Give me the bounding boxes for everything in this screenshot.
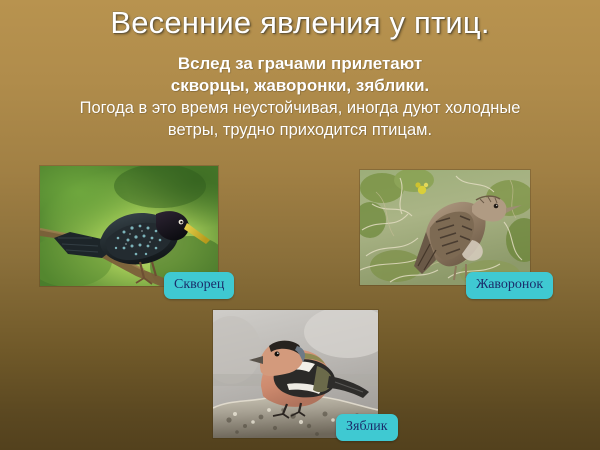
lark-image bbox=[360, 170, 530, 285]
body-line-3: Погода в это время неустойчивая, иногда … bbox=[0, 97, 600, 119]
starling-image bbox=[40, 166, 218, 286]
caption-lark: Жаворонок bbox=[466, 272, 553, 299]
body-line-4: ветры, трудно приходится птицам. bbox=[0, 119, 600, 141]
lark-photo bbox=[360, 170, 530, 285]
page-title: Весенние явления у птиц. bbox=[0, 4, 600, 42]
body-line-1: Вслед за грачами прилетают bbox=[0, 53, 600, 75]
caption-chaffinch: Зяблик bbox=[336, 414, 398, 441]
body-line-2: скворцы, жаворонки, зяблики. bbox=[0, 75, 600, 97]
starling-photo bbox=[40, 166, 218, 286]
body-text-block: Вслед за грачами прилетают скворцы, жаво… bbox=[0, 53, 600, 141]
bird-eye bbox=[494, 204, 499, 209]
slide-canvas: Весенние явления у птиц. Вслед за грачам… bbox=[0, 0, 600, 450]
bird-eye bbox=[275, 352, 280, 357]
caption-starling: Скворец bbox=[164, 272, 234, 299]
